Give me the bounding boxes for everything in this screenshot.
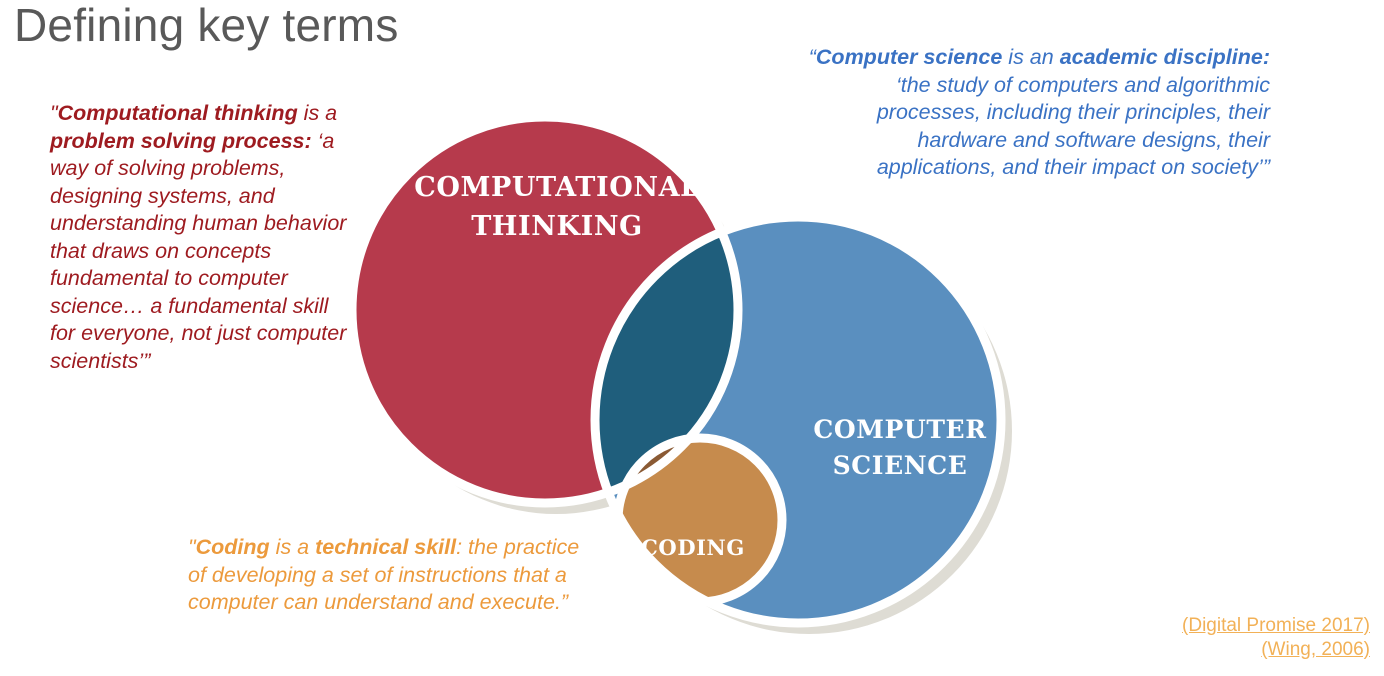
quote-coding-connector: is a xyxy=(270,535,315,559)
citation-link-wing[interactable]: (Wing, 2006) xyxy=(1040,638,1370,662)
quote-ct-open: " xyxy=(50,101,58,125)
quote-cs-connector: is an xyxy=(1002,45,1059,69)
quote-cs-term: Computer science xyxy=(816,45,1002,69)
quote-ct-term: Computational thinking xyxy=(58,101,298,125)
quote-cs-category: academic discipline: xyxy=(1060,45,1270,69)
quote-coding: "Coding is a technical skill: the practi… xyxy=(188,534,598,617)
quote-coding-category: technical skill xyxy=(315,535,456,559)
quote-cs-body: ‘the study of computers and algorithmic … xyxy=(877,73,1270,180)
label-computational-thinking-line1: COMPUTATIONAL xyxy=(414,172,700,203)
citation-list: (Digital Promise 2017) (Wing, 2006) xyxy=(1040,614,1370,663)
quote-ct-body: ‘a way of solving problems, designing sy… xyxy=(50,129,346,373)
quote-cs-open: “ xyxy=(809,45,816,69)
label-computer-science-line1: COMPUTER xyxy=(813,415,986,444)
label-computational-thinking-line2: THINKING xyxy=(471,211,643,242)
quote-computational-thinking: "Computational thinking is a problem sol… xyxy=(50,100,350,375)
quote-ct-connector: is a xyxy=(298,101,337,125)
quote-computer-science: “Computer science is an academic discipl… xyxy=(800,44,1270,182)
slide-canvas: Defining key terms xyxy=(0,0,1384,676)
quote-coding-term: Coding xyxy=(196,535,270,559)
quote-coding-open: " xyxy=(188,535,196,559)
quote-ct-category: problem solving process: xyxy=(50,129,312,153)
page-title: Defining key terms xyxy=(14,0,399,52)
citation-link-digital-promise[interactable]: (Digital Promise 2017) xyxy=(1040,614,1370,638)
label-coding: CODING xyxy=(641,535,745,560)
label-computer-science-line2: SCIENCE xyxy=(833,451,968,480)
